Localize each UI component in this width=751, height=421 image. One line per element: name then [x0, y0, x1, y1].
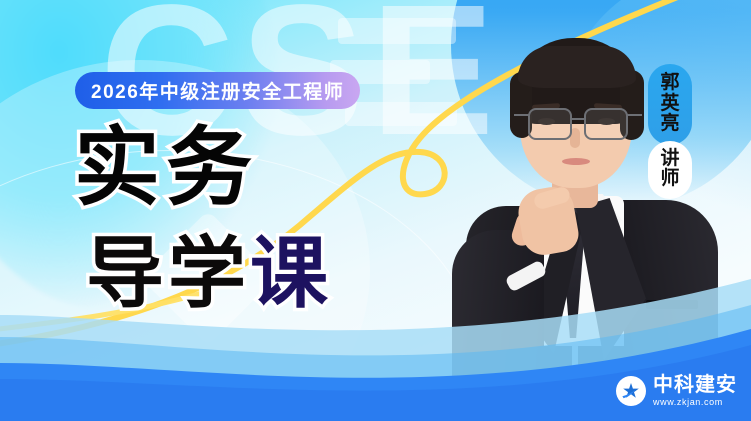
course-banner: CSE [0, 0, 751, 421]
course-title-line1: 实务 [74, 125, 258, 211]
instructor-role-pill: 讲 师 [648, 141, 692, 199]
brand-url: www.zkjan.com [653, 398, 737, 407]
brand-logo[interactable]: 中科建安 www.zkjan.com [616, 375, 737, 407]
course-title-line2: 导学课 [86, 234, 332, 312]
brand-name: 中科建安 [653, 375, 737, 395]
instructor-name-char-1: 郭 [660, 73, 679, 94]
instructor-name-char-2: 英 [660, 94, 679, 115]
star-swoosh-icon [616, 376, 646, 406]
instructor-name-char-3: 亮 [660, 114, 679, 135]
instructor-role-char-2: 师 [660, 169, 679, 190]
course-badge: 2026年中级注册安全工程师 [75, 72, 360, 109]
instructor-name-pill: 郭 英 亮 [648, 64, 692, 145]
course-title-line2-main: 导学 [86, 229, 250, 317]
brand-text: 中科建安 www.zkjan.com [653, 375, 737, 407]
instructor-role-char-1: 讲 [660, 149, 679, 170]
course-title-line2-accent: 课 [250, 229, 332, 317]
instructor-label-group: 郭 英 亮 讲 师 [648, 64, 692, 199]
